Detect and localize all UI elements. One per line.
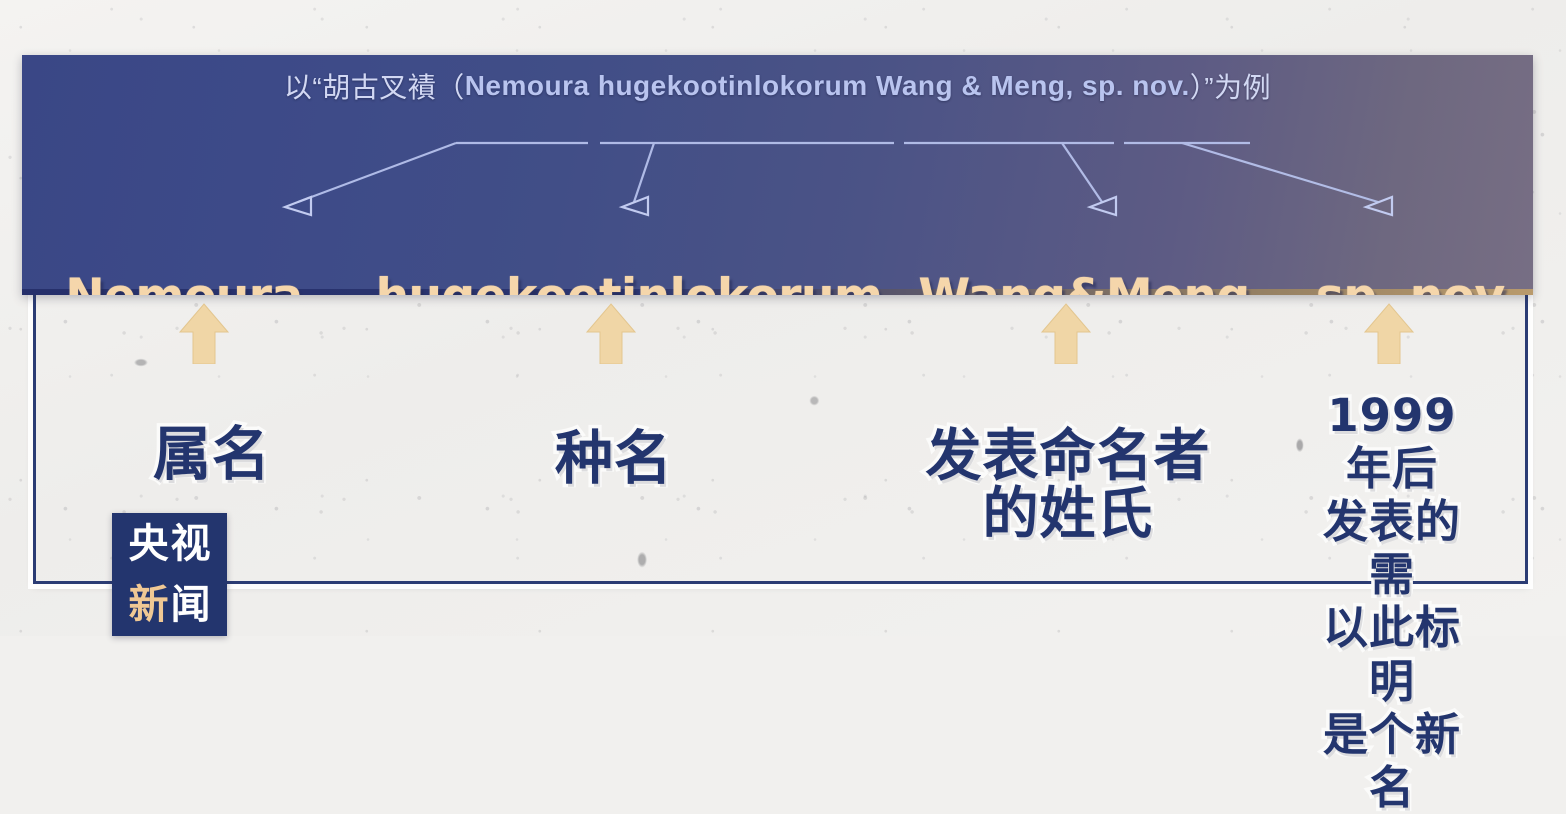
- leader-genus: [298, 143, 456, 202]
- leader-authors: [1062, 143, 1102, 202]
- term-latin-genus: Nemoura: [65, 269, 302, 295]
- up-arrow-species-icon: [585, 302, 637, 364]
- arrowhead-authors: [1090, 197, 1116, 215]
- logo-char-shi: 视: [171, 524, 211, 564]
- logo-char-wen: 闻: [171, 585, 211, 625]
- cctv-news-logo: 央 视 新 闻: [112, 513, 227, 636]
- label-spnov: 1999年后 发表的需 以此标明 是个新名: [1305, 336, 1479, 814]
- term-latin-authors: Wang&Meng: [918, 269, 1249, 295]
- term-latin-species: hugekootinlokorum: [376, 269, 883, 295]
- label-species: 种名: [555, 368, 673, 489]
- logo-char-yang: 央: [129, 524, 169, 564]
- term-latin-spnov: sp. nov.: [1316, 269, 1518, 295]
- logo-char-xin: 新: [129, 585, 169, 625]
- leader-spnov: [1182, 143, 1378, 202]
- leader-species: [634, 143, 654, 202]
- intro-prefix: 以“胡古叉襀（: [284, 66, 465, 106]
- logo-line-1: 央 视: [129, 524, 211, 564]
- logo-line-2: 新 闻: [129, 585, 211, 625]
- intro-latin-name: Nemoura hugekootinlokorum Wang & Meng, s…: [465, 70, 1190, 102]
- intro-sentence: 以“胡古叉襀（Nemoura hugekootinlokorum Wang & …: [22, 55, 1533, 117]
- gradient-banner: 以“胡古叉襀（Nemoura hugekootinlokorum Wang & …: [22, 55, 1533, 295]
- up-arrow-authors-icon: [1040, 302, 1092, 364]
- label-authors: 发表命名者 的姓氏: [926, 370, 1211, 545]
- up-arrow-genus-icon: [178, 302, 230, 364]
- label-genus: 属名: [153, 364, 271, 485]
- intro-suffix: ）”为例: [1190, 66, 1271, 106]
